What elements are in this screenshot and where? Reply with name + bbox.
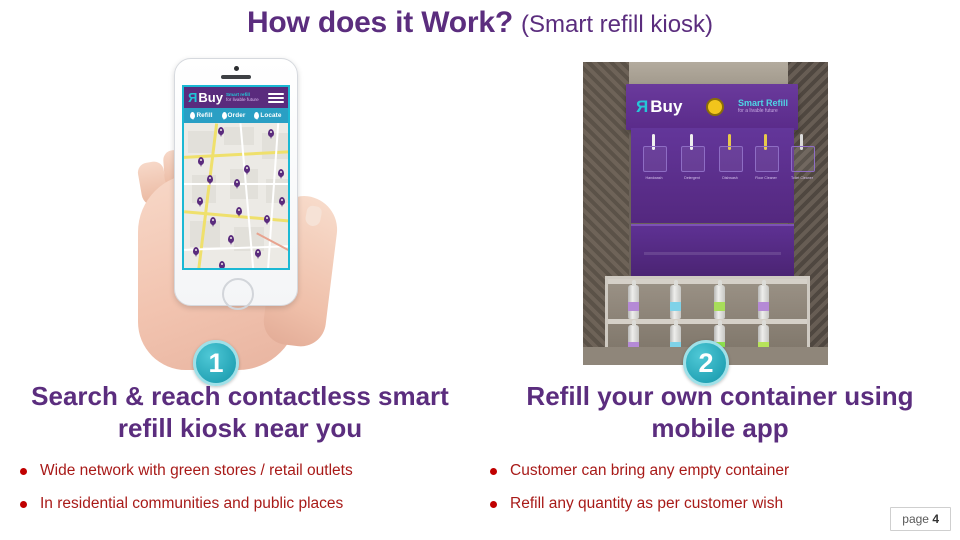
list-item: Wide network with green stores / retail … <box>20 461 470 480</box>
map-pin <box>228 235 234 243</box>
app-tagline-line2: for livable future <box>226 98 259 103</box>
map-pin <box>264 215 270 223</box>
kiosk-tagline-line2: for a livable future <box>738 109 788 115</box>
product-icon <box>719 146 743 172</box>
step-badge-2: 2 <box>683 340 729 386</box>
dispenser-station: Handwash <box>641 146 667 194</box>
map-pin <box>207 175 213 183</box>
page-number-box: page 4 <box>890 507 951 531</box>
app-nav-bar: Refill Order Locate <box>184 108 288 123</box>
list-item: In residential communities and public pl… <box>20 494 470 513</box>
bullet-list-left: Wide network with green stores / retail … <box>20 461 470 528</box>
map-pin <box>219 261 225 268</box>
dispenser-station: Detergent <box>679 146 705 194</box>
product-icon <box>643 146 667 172</box>
refill-bottle <box>628 285 639 319</box>
slide-canvas: How does it Work?(Smart refill kiosk) R … <box>0 0 960 540</box>
map-pin <box>198 157 204 165</box>
list-item: Refill any quantity as per customer wish <box>490 494 940 513</box>
map-pin <box>236 207 242 215</box>
column-heading-right: Refill your own container using mobile a… <box>490 381 950 444</box>
dispenser-label: Detergent <box>675 176 709 180</box>
pin-icon <box>254 112 259 119</box>
column-heading-left: Search & reach contactless smart refill … <box>10 381 470 444</box>
kiosk-dispenser-panel: Handwash Detergent Dishwash Floor Cleane… <box>631 128 794 223</box>
front-camera-icon <box>234 66 239 71</box>
map-pin <box>279 197 285 205</box>
title-subtitle-text: (Smart refill kiosk) <box>521 11 713 38</box>
refill-bottle <box>714 285 725 319</box>
page-label: page <box>902 512 929 526</box>
dispenser-label: Dishwash <box>713 176 747 180</box>
kiosk-tagline: Smart Refill for a livable future <box>738 99 788 114</box>
map-pin <box>234 179 240 187</box>
map-pin <box>218 127 224 135</box>
smartphone-device: R Buy Smart refill for livable future Re… <box>174 58 298 306</box>
product-icon <box>755 146 779 172</box>
app-nav-item-refill[interactable]: Refill <box>190 112 212 119</box>
rbuy-logo-mark-icon: R <box>188 91 197 104</box>
map-pin <box>244 165 250 173</box>
gold-seal-icon <box>706 98 724 116</box>
phone-screen: R Buy Smart refill for livable future Re… <box>182 85 290 270</box>
map-pin <box>197 197 203 205</box>
app-nav-label: Order <box>228 112 246 119</box>
rbuy-logo-text: Buy <box>198 91 223 104</box>
rbuy-logo-mark-icon: R <box>636 97 648 117</box>
map-pin <box>193 247 199 255</box>
product-icon <box>681 146 705 172</box>
bullet-list-right: Customer can bring any empty container R… <box>490 461 940 528</box>
refill-bottle <box>670 285 681 319</box>
app-nav-label: Refill <box>196 112 212 119</box>
bullet-text: Wide network with green stores / retail … <box>40 461 353 480</box>
hamburger-menu-icon[interactable] <box>268 93 284 103</box>
title-main-text: How does it Work? <box>247 6 513 39</box>
map-view[interactable] <box>184 123 288 268</box>
bullet-text: Refill any quantity as per customer wish <box>510 494 783 513</box>
home-button-icon[interactable] <box>222 278 254 310</box>
pin-icon <box>222 112 227 119</box>
app-tagline: Smart refill for livable future <box>226 93 259 103</box>
kiosk-photo: R Buy Smart Refill for a livable future … <box>583 62 828 365</box>
step-badge-1: 1 <box>193 340 239 386</box>
dispenser-label: Floor Cleaner <box>749 176 783 180</box>
map-pin <box>278 169 284 177</box>
app-nav-item-locate[interactable]: Locate <box>254 112 281 119</box>
refill-bottle <box>758 285 769 319</box>
dispenser-label: Toilet Cleaner <box>785 176 819 180</box>
app-nav-label: Locate <box>260 112 281 119</box>
page-number: 4 <box>932 512 939 526</box>
rbuy-logo-text: Buy <box>650 97 682 117</box>
bullet-dot-icon <box>20 468 27 475</box>
kiosk-cabinet <box>631 224 794 278</box>
dispenser-label: Handwash <box>637 176 671 180</box>
bullet-dot-icon <box>490 468 497 475</box>
page-title: How does it Work?(Smart refill kiosk) <box>0 6 960 40</box>
kiosk-branding-banner: R Buy Smart Refill for a livable future <box>626 84 798 130</box>
product-icon <box>791 146 815 172</box>
dispenser-station: Dishwash <box>717 146 743 194</box>
bullet-dot-icon <box>20 501 27 508</box>
app-nav-item-order[interactable]: Order <box>222 112 246 119</box>
list-item: Customer can bring any empty container <box>490 461 940 480</box>
bullet-dot-icon <box>490 501 497 508</box>
dispenser-station: Toilet Cleaner <box>789 146 815 194</box>
earpiece-speaker <box>221 75 251 79</box>
phone-in-hand-illustration: R Buy Smart refill for livable future Re… <box>120 58 350 370</box>
dispenser-station: Floor Cleaner <box>753 146 779 194</box>
map-pin <box>210 217 216 225</box>
bullet-text: Customer can bring any empty container <box>510 461 789 480</box>
pin-icon <box>190 112 195 119</box>
bullet-text: In residential communities and public pl… <box>40 494 343 513</box>
kiosk-scene: R Buy Smart Refill for a livable future … <box>583 62 828 365</box>
map-pin <box>268 129 274 137</box>
map-pin <box>255 249 261 257</box>
app-header-bar: R Buy Smart refill for livable future <box>184 87 288 108</box>
